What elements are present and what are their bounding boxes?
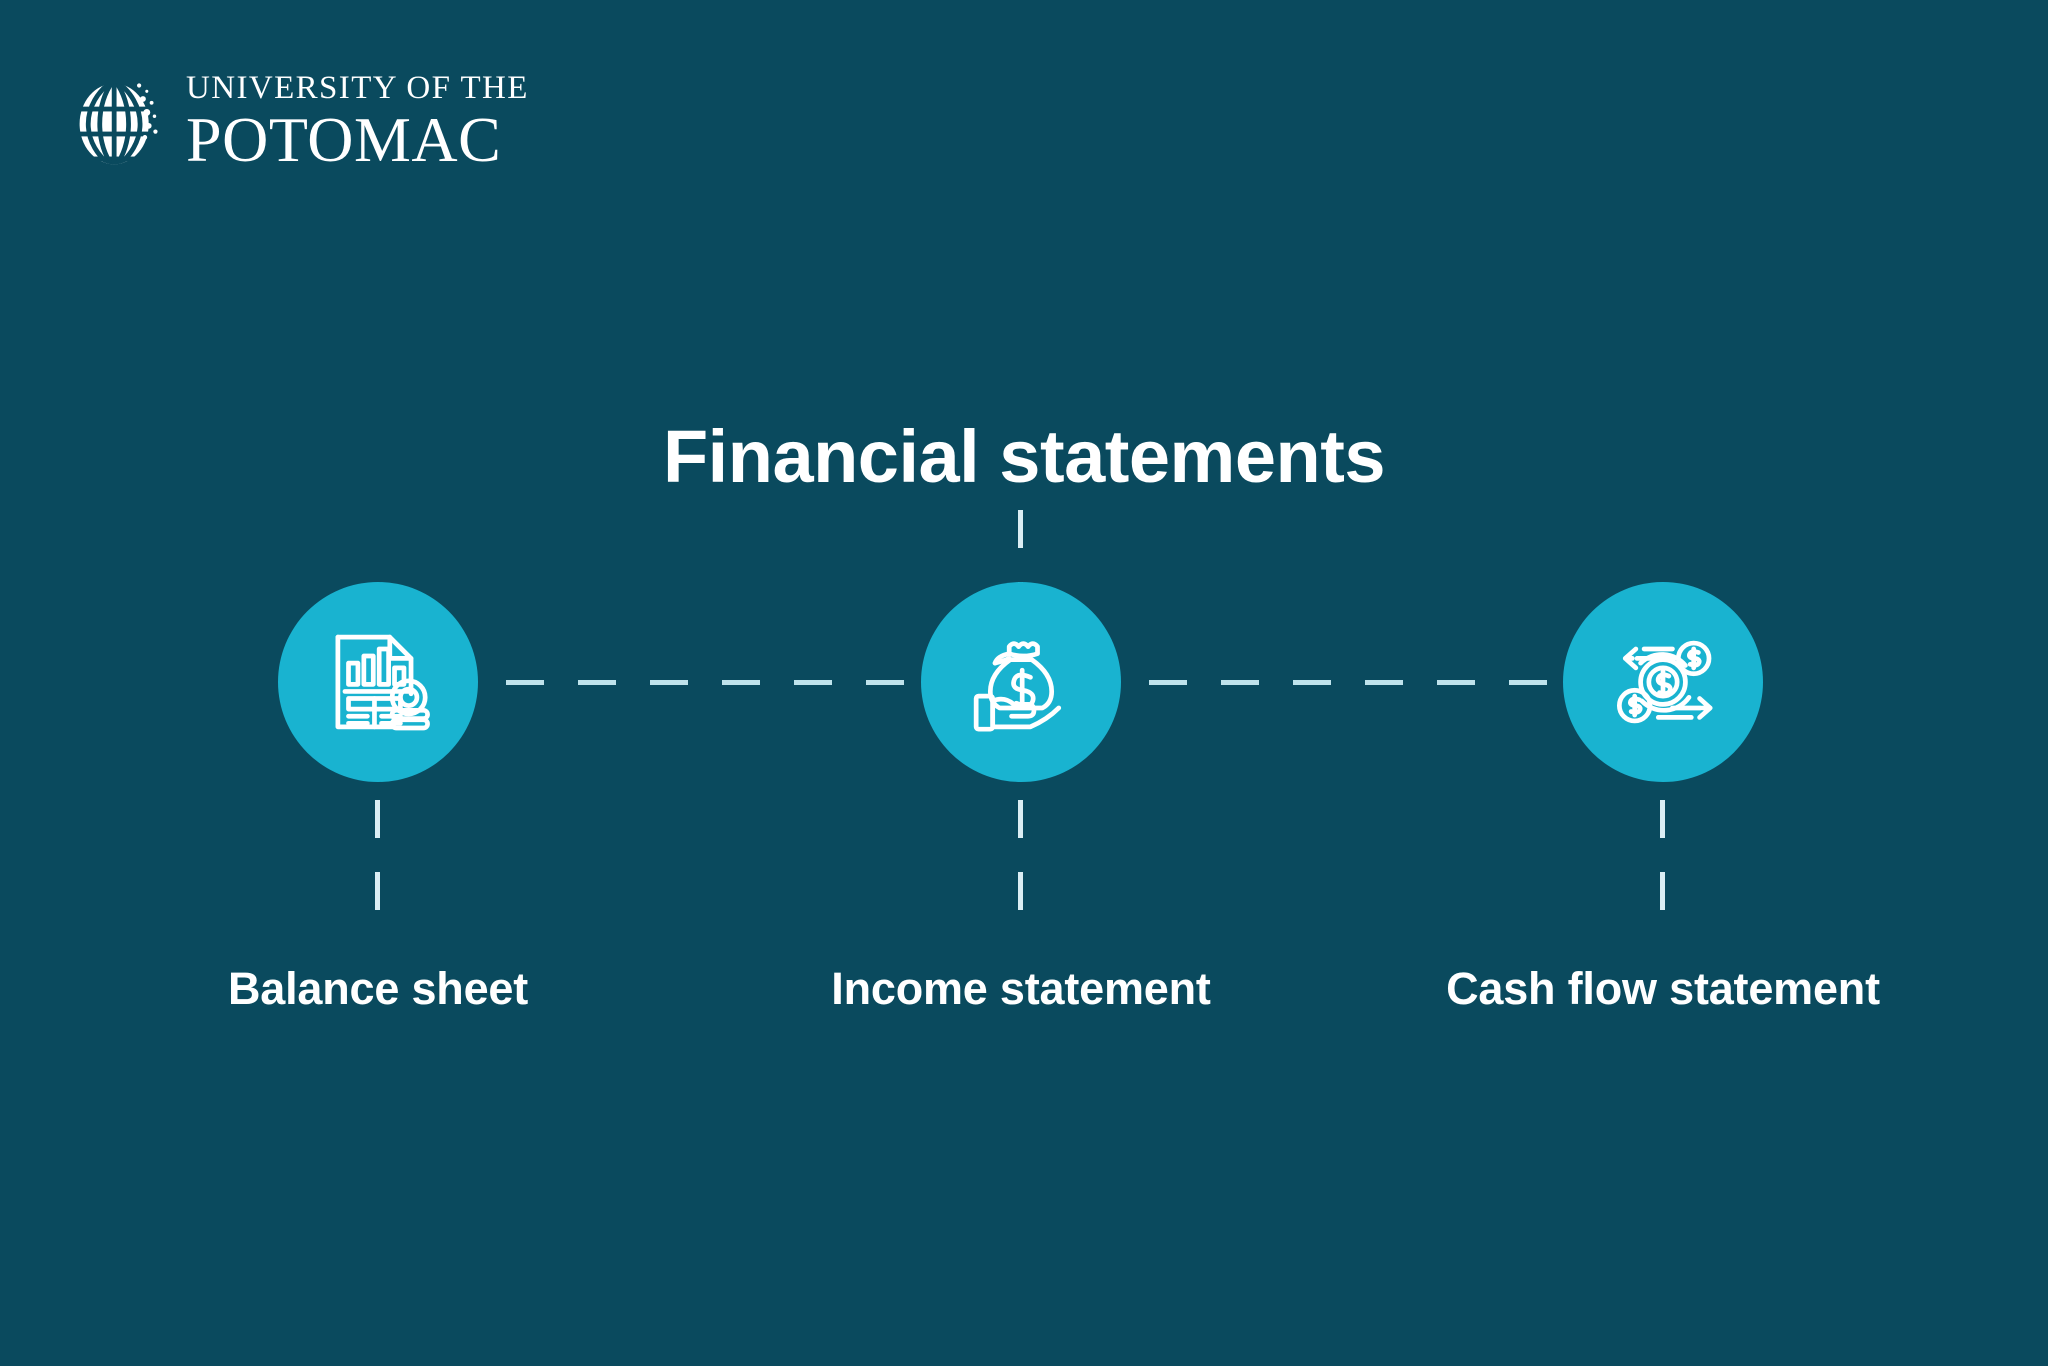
connector-vertical-top-income-statement <box>1018 510 1023 586</box>
connector-horizontal-income-to-cashflow <box>1149 680 1557 685</box>
financial-statements-diagram: Balance sheet Income statement Cash flow… <box>0 0 2048 1366</box>
connector-horizontal-balance-to-income <box>506 680 914 685</box>
node-income-statement[interactable] <box>921 582 1121 782</box>
slide-canvas: UNIVERSITY OF THE POTOMAC Financial stat… <box>0 0 2048 1366</box>
connector-vertical-bottom-income-statement <box>1018 800 1023 912</box>
label-cash-flow-statement: Cash flow statement <box>1383 963 1943 1015</box>
connector-vertical-bottom-balance-sheet <box>375 800 380 912</box>
connector-vertical-bottom-cash-flow-statement <box>1660 800 1665 912</box>
hand-holding-money-bag-icon <box>962 623 1080 741</box>
coins-exchange-arrows-icon <box>1604 623 1722 741</box>
node-balance-sheet[interactable] <box>278 582 478 782</box>
label-income-statement: Income statement <box>741 963 1301 1015</box>
node-cash-flow-statement[interactable] <box>1563 582 1763 782</box>
document-bar-chart-coins-icon <box>319 623 437 741</box>
label-balance-sheet: Balance sheet <box>98 963 658 1015</box>
